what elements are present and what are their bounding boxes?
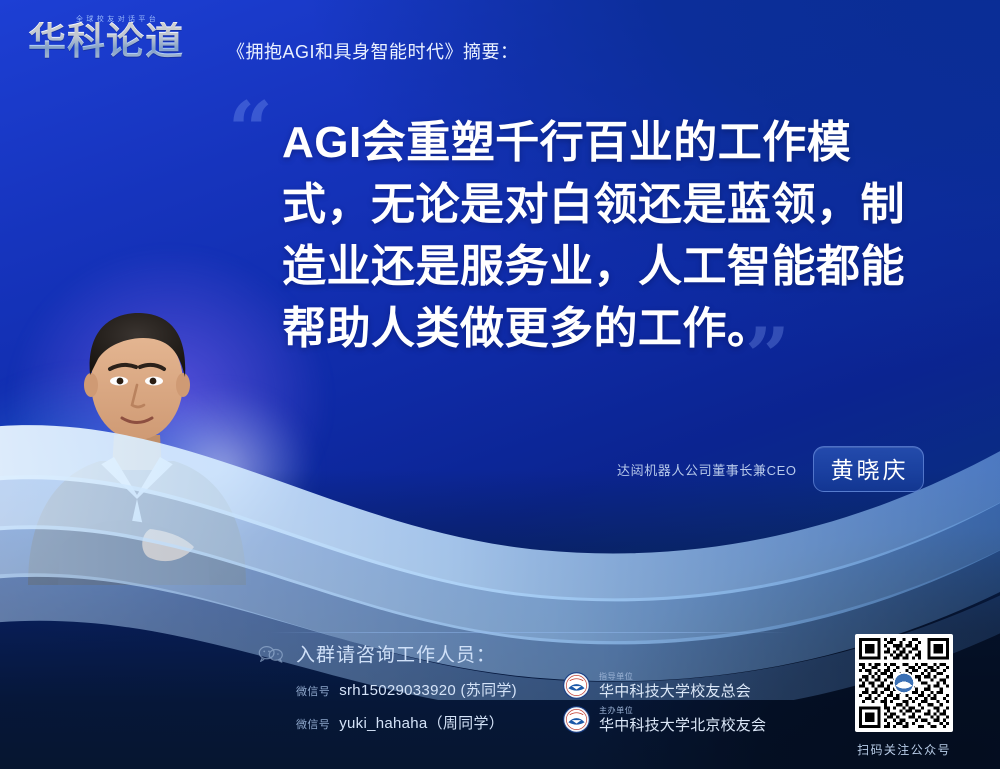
quote-line: 造业还是服务业，人工智能都能 — [282, 236, 942, 298]
wechat-label: 微信号 — [296, 683, 330, 699]
wechat-icon — [258, 645, 284, 663]
contact-block: 入群请咨询工作人员： 微信号 srh15029033920 (苏同学) 微信号 … — [258, 640, 588, 733]
logo-wordmark: 华科论道 — [28, 22, 184, 60]
wechat-row: 微信号 srh15029033920 (苏同学) — [258, 679, 588, 700]
organization-name: 华中科技大学北京校友会 — [599, 718, 766, 733]
university-seal-icon — [563, 706, 590, 733]
quote-text: AGI会重塑千行百业的工作模 式，无论是对白领还是蓝领，制 造业还是服务业，人工… — [282, 112, 942, 360]
qr-block: 扫码关注公众号 — [843, 634, 965, 758]
organization-row: 主办单位 华中科技大学北京校友会 — [563, 706, 766, 733]
footer-divider — [270, 632, 788, 633]
quote-line: 帮助人类做更多的工作。 — [282, 298, 942, 360]
speaker-role: 达闼机器人公司董事长兼CEO — [617, 460, 797, 479]
organization-row: 指导单位 华中科技大学校友总会 — [563, 672, 766, 699]
quote-line: AGI会重塑千行百业的工作模 — [282, 112, 942, 174]
organization-kind: 指导单位 — [599, 673, 751, 681]
poster-canvas: 全球校友对话平台 华科论道 《拥抱AGI和具身智能时代》摘要： “ ” AGI会… — [0, 0, 1000, 769]
speaker-attribution: 达闼机器人公司董事长兼CEO 黄晓庆 — [617, 446, 924, 492]
organizations-block: 指导单位 华中科技大学校友总会 主办单位 华中科技大学北京校友会 — [563, 672, 766, 740]
wechat-label: 微信号 — [296, 716, 330, 732]
speaker-name-badge: 黄晓庆 — [813, 446, 924, 492]
wechat-value[interactable]: yuki_hahaha（周同学） — [339, 712, 504, 733]
quote-line: 式，无论是对白领还是蓝领，制 — [282, 174, 942, 236]
organization-name: 华中科技大学校友总会 — [599, 684, 751, 699]
wechat-value[interactable]: srh15029033920 (苏同学) — [339, 679, 517, 700]
qr-code-icon[interactable] — [855, 634, 953, 732]
page-title: 《拥抱AGI和具身智能时代》摘要： — [227, 38, 519, 68]
header: 全球校友对话平台 华科论道 《拥抱AGI和具身智能时代》摘要： — [28, 14, 519, 68]
qr-caption: 扫码关注公众号 — [843, 741, 965, 758]
quote-open-icon: “ — [228, 92, 273, 170]
brand-logo[interactable]: 全球校友对话平台 华科论道 — [28, 14, 213, 68]
organization-kind: 主办单位 — [599, 707, 766, 715]
contact-title: 入群请咨询工作人员： — [296, 640, 496, 667]
wechat-row: 微信号 yuki_hahaha（周同学） — [258, 712, 588, 733]
university-seal-icon — [563, 672, 590, 699]
